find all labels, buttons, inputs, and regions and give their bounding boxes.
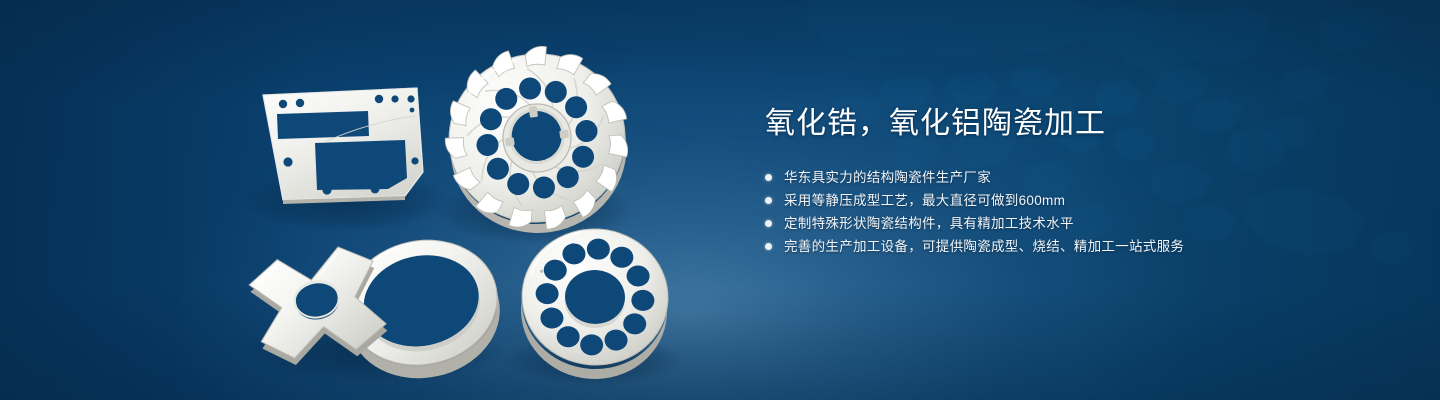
bullet-dot-icon bbox=[765, 243, 772, 250]
feature-text: 采用等静压成型工艺，最大直径可做到600mm bbox=[784, 191, 1065, 210]
list-item: 完善的生产加工设备，可提供陶瓷成型、烧结、精加工一站式服务 bbox=[765, 235, 1405, 258]
bullet-dot-icon bbox=[765, 220, 772, 227]
ceramic-parts-artwork bbox=[0, 0, 760, 400]
feature-text: 定制特殊形状陶瓷结构件，具有精加工技术水平 bbox=[784, 214, 1074, 233]
bullet-dot-icon bbox=[765, 174, 772, 181]
list-item: 采用等静压成型工艺，最大直径可做到600mm bbox=[765, 189, 1405, 212]
ceramic-plate-part bbox=[263, 88, 423, 204]
banner-text-column: 氧化锆，氧化铝陶瓷加工 华东具实力的结构陶瓷件生产厂家 采用等静压成型工艺，最大… bbox=[765, 104, 1405, 258]
hero-banner: 氧化锆，氧化铝陶瓷加工 华东具实力的结构陶瓷件生产厂家 采用等静压成型工艺，最大… bbox=[0, 0, 1440, 400]
list-item: 定制特殊形状陶瓷结构件，具有精加工技术水平 bbox=[765, 212, 1405, 235]
feature-list: 华东具实力的结构陶瓷件生产厂家 采用等静压成型工艺，最大直径可做到600mm 定… bbox=[765, 166, 1405, 258]
feature-text: 完善的生产加工设备，可提供陶瓷成型、烧结、精加工一站式服务 bbox=[784, 237, 1184, 256]
bullet-dot-icon bbox=[765, 197, 772, 204]
list-item: 华东具实力的结构陶瓷件生产厂家 bbox=[765, 166, 1405, 189]
page-title: 氧化锆，氧化铝陶瓷加工 bbox=[765, 104, 1405, 144]
feature-text: 华东具实力的结构陶瓷件生产厂家 bbox=[784, 168, 991, 187]
